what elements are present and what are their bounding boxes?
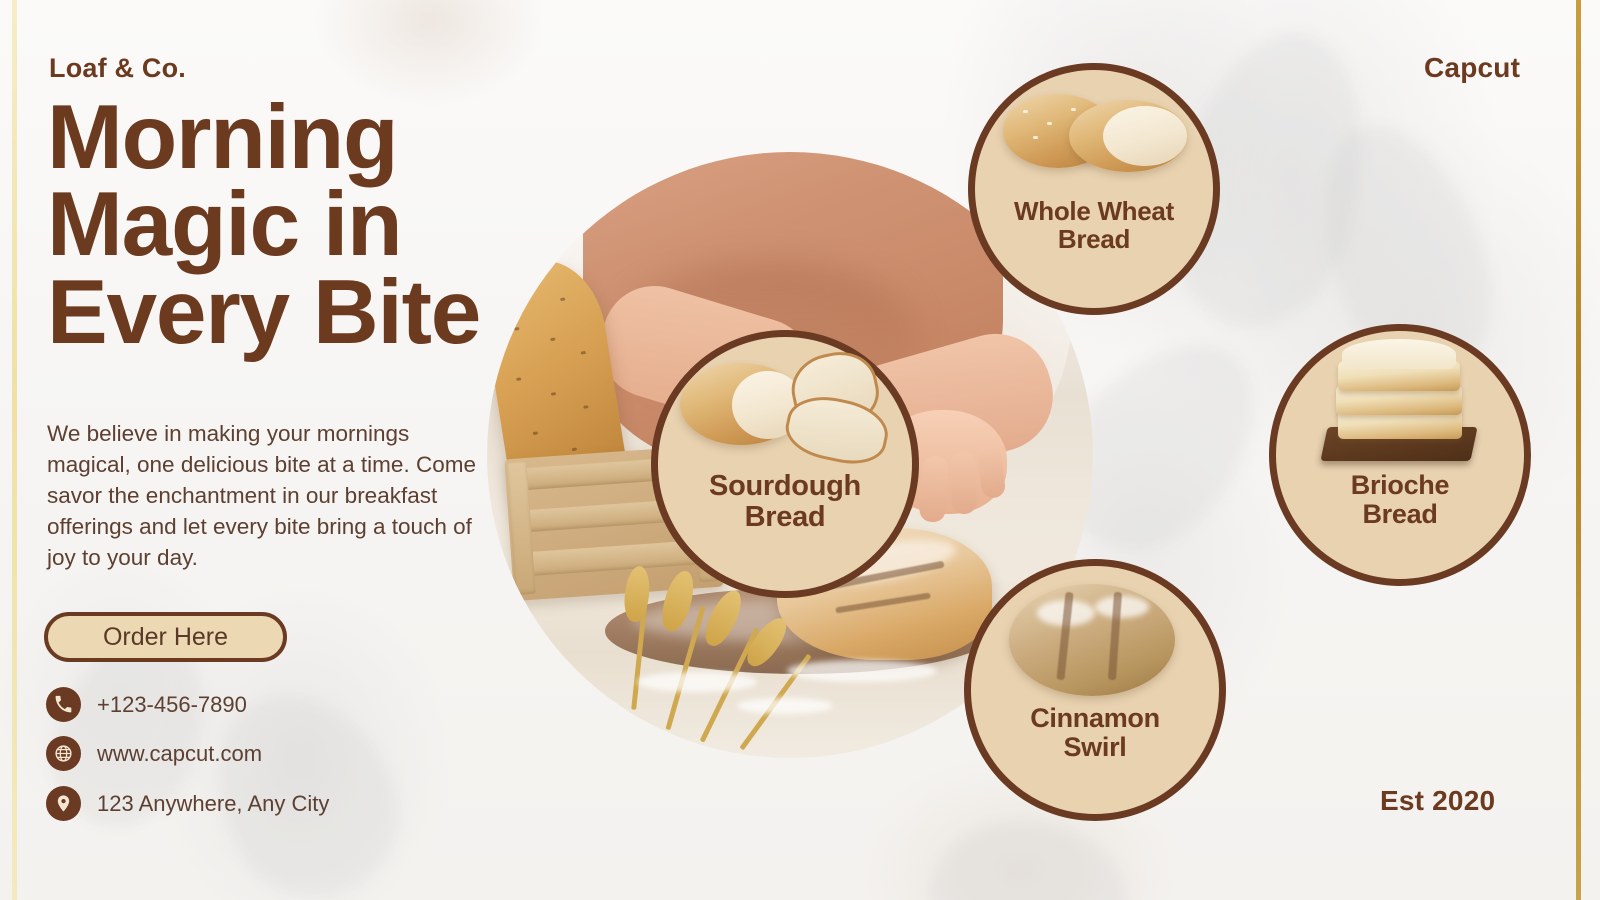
headline-line-2: Magic in [47, 181, 567, 268]
product-label: Whole WheatBread [1014, 198, 1174, 253]
product-badge-brioche[interactable]: BriocheBread [1269, 324, 1531, 586]
right-gold-rule [1576, 0, 1581, 900]
headline-line-1: Morning [47, 94, 567, 181]
brioche-bread-image [1276, 331, 1524, 471]
product-badge-whole-wheat[interactable]: Whole WheatBread [968, 63, 1220, 315]
contact-phone[interactable]: +123-456-7890 [46, 687, 247, 722]
street-address: 123 Anywhere, Any City [97, 791, 329, 817]
product-badge-cinnamon-swirl[interactable]: CinnamonSwirl [964, 559, 1226, 821]
product-label: SourdoughBread [709, 471, 861, 532]
capcut-wordmark: Capcut [1424, 52, 1520, 84]
contact-address[interactable]: 123 Anywhere, Any City [46, 786, 329, 821]
cinnamon-swirl-image [971, 566, 1219, 702]
whole-wheat-bread-image [975, 70, 1213, 194]
phone-number: +123-456-7890 [97, 692, 247, 718]
page-title: Morning Magic in Every Bite [47, 94, 567, 356]
contact-website[interactable]: www.capcut.com [46, 736, 262, 771]
order-here-button[interactable]: Order Here [44, 612, 287, 662]
headline-line-3: Every Bite [47, 269, 567, 356]
product-label: BriocheBread [1351, 471, 1449, 528]
globe-icon [46, 736, 81, 771]
location-icon [46, 786, 81, 821]
poster-canvas: SourdoughBread Whole WheatBread Cinnamon… [0, 0, 1600, 900]
product-badge-sourdough[interactable]: SourdoughBread [651, 330, 919, 598]
brand-logo: Loaf & Co. [49, 53, 186, 84]
website-url: www.capcut.com [97, 741, 262, 767]
product-label: CinnamonSwirl [1030, 704, 1160, 761]
sourdough-bread-image [658, 337, 912, 469]
left-gold-rule [12, 0, 17, 900]
established-year: Est 2020 [1380, 785, 1495, 817]
body-copy: We believe in making your mornings magic… [47, 418, 487, 573]
phone-icon [46, 687, 81, 722]
